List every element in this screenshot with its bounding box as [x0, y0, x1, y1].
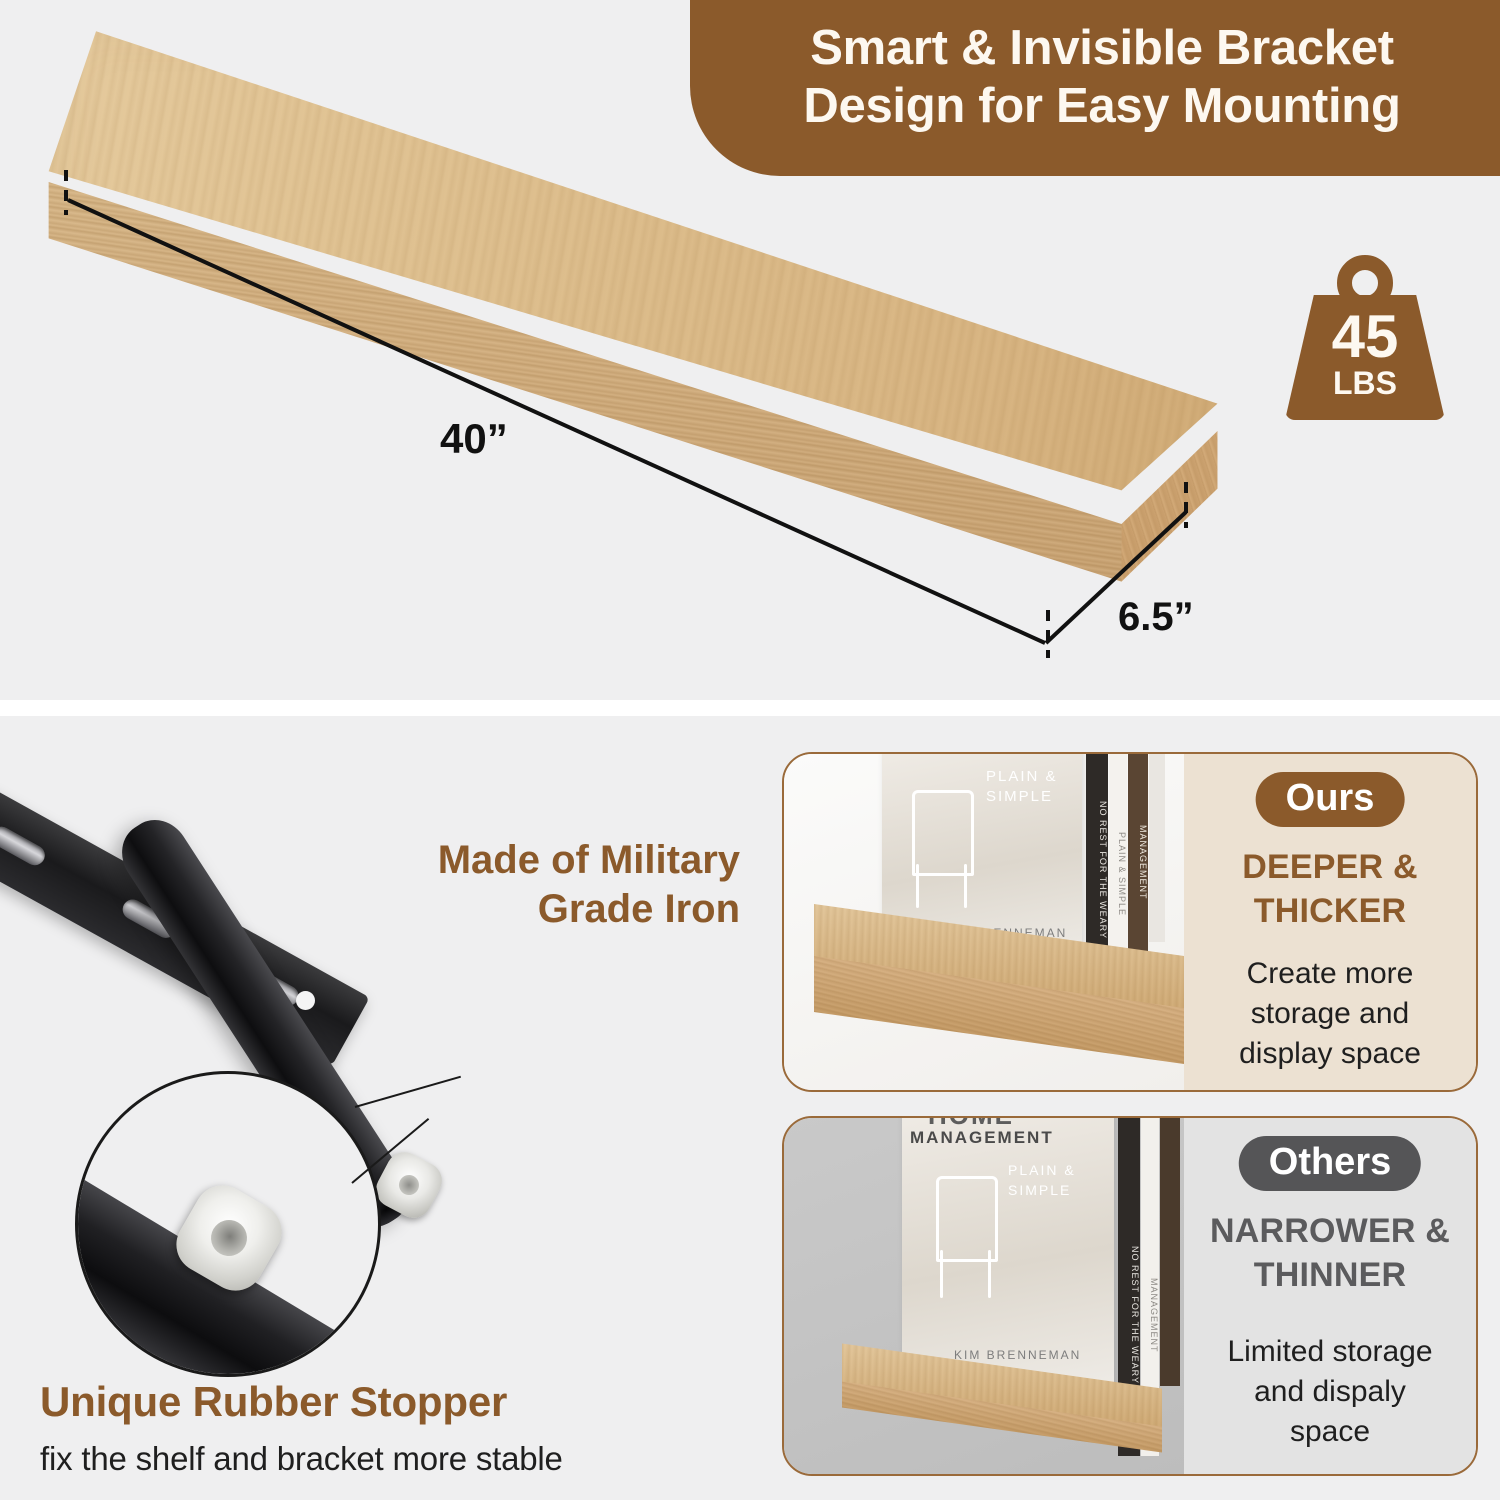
book-cover-front: HOME MANAGEMENT PLAIN & SIMPLE KIM BRENN… [902, 1118, 1114, 1394]
ours-badge: Ours [1256, 772, 1405, 827]
others-headline: NARROWER & THINNER [1184, 1210, 1476, 1297]
magnifier-leader-line [355, 1076, 461, 1108]
ours-photo: PLAIN & SIMPLE KIM BRENNEMAN NO REST FOR… [784, 754, 1184, 1090]
hero-section: 40” 6.5” 45 LBS Smart & Invisible Bracke… [0, 0, 1500, 700]
book-title-line2: SIMPLE [986, 788, 1053, 805]
product-infographic: 40” 6.5” 45 LBS Smart & Invisible Bracke… [0, 0, 1500, 1500]
stopper-feature-subtitle: fix the shelf and bracket more stable [40, 1440, 563, 1478]
section-divider [0, 700, 1500, 716]
magnifier-circle [75, 1071, 381, 1377]
stopper-feature-title: Unique Rubber Stopper [40, 1378, 507, 1426]
book-spine [1160, 1118, 1180, 1386]
chair-leg [964, 864, 967, 908]
weight-value: 45 [1285, 307, 1445, 367]
page-title: Smart & Invisible Bracket Design for Eas… [730, 20, 1474, 136]
ours-text-panel: Ours DEEPER & THICKER Create more storag… [1184, 754, 1476, 1090]
book-title-line1: PLAIN & [1008, 1162, 1076, 1178]
chair-leg [916, 864, 919, 908]
book-spine: NO REST FOR THE WEARY [1086, 754, 1108, 968]
book-spine [1149, 754, 1165, 942]
ours-headline: DEEPER & THICKER [1184, 846, 1476, 933]
bracket-screw-slot [0, 823, 48, 869]
book-spine: PLAIN & SIMPLE [1109, 754, 1127, 972]
book-cover-subtitle: MANAGEMENT [910, 1128, 1054, 1148]
depth-dimension-label: 6.5” [1118, 595, 1194, 640]
comparison-card-ours: PLAIN & SIMPLE KIM BRENNEMAN NO REST FOR… [782, 752, 1478, 1092]
bracket-pin-hole [296, 991, 315, 1010]
others-photo: HOME MANAGEMENT PLAIN & SIMPLE KIM BRENN… [784, 1118, 1184, 1474]
features-section: Made of Military Grade Iron Unique Rubbe… [0, 716, 1500, 1500]
others-body-text: Limited storage and dispaly space [1184, 1332, 1476, 1453]
book-title-line1: PLAIN & [986, 768, 1058, 785]
book-title-line2: SIMPLE [1008, 1182, 1071, 1198]
chair-leg [988, 1250, 991, 1298]
book-spine: MANAGEMENT [1128, 754, 1148, 960]
weight-capacity-badge: 45 LBS [1285, 255, 1445, 420]
ours-body-text: Create more storage and display space [1184, 954, 1476, 1075]
header-banner: Smart & Invisible Bracket Design for Eas… [690, 0, 1500, 176]
comparison-card-others: HOME MANAGEMENT PLAIN & SIMPLE KIM BRENN… [782, 1116, 1478, 1476]
others-badge: Others [1239, 1136, 1421, 1191]
chair-leg [940, 1250, 943, 1298]
book-author: KIM BRENNEMAN [954, 1348, 1081, 1362]
others-text-panel: Others NARROWER & THINNER Limited storag… [1184, 1118, 1476, 1474]
weight-unit: LBS [1285, 367, 1445, 399]
length-dimension-label: 40” [440, 415, 508, 463]
material-feature-title: Made of Military Grade Iron [320, 836, 740, 934]
